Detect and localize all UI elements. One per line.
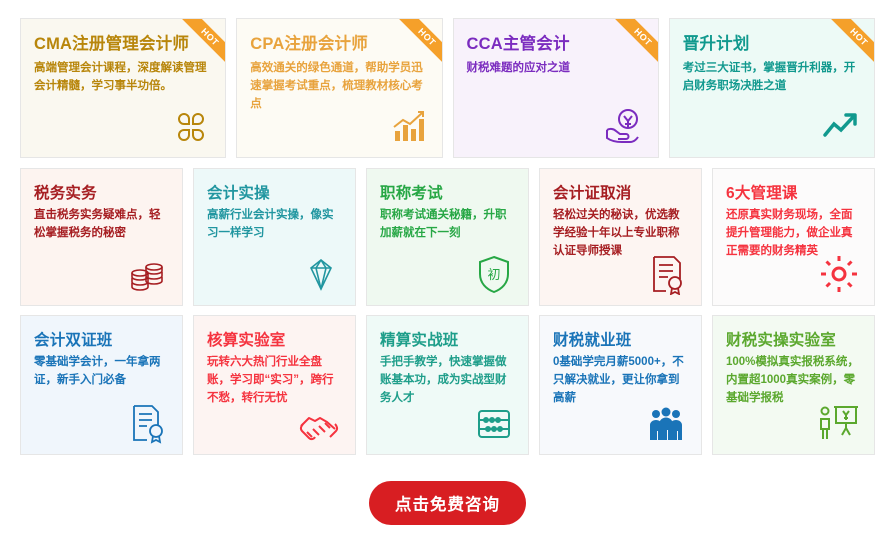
course-card-description: 直击税务实务疑难点，轻松掌握税务的秘密 [34,207,169,243]
course-card[interactable]: HOTCPA注册会计师高效通关的绿色通道，帮助学员迅速掌握考试重点，梳理教材核心… [236,18,442,158]
hot-ribbon-label: HOT [398,19,441,63]
course-card-title: 核算实验室 [207,332,342,349]
abacus-icon [468,398,514,444]
free-consult-button[interactable]: 点击免费咨询 [369,481,526,525]
course-card[interactable]: HOT晋升计划考过三大证书，掌握晋升利器，开启财务职场决胜之道 [669,18,875,158]
course-card[interactable]: HOTCMA注册管理会计师高端管理会计课程，深度解读管理会计精髓，学习事半功倍。 [20,18,226,158]
course-card-title: 财税实操实验室 [726,332,861,349]
course-card-title: 财税就业班 [553,332,688,349]
coins-icon [122,249,168,295]
handshake-icon [295,398,341,444]
course-card[interactable]: 财税就业班0基础学完月薪5000+，不只解决就业，更让你拿到高薪 [539,315,702,455]
course-card-title: 会计证取消 [553,185,688,202]
course-card-description: 零基础学会计，一年拿两证，新手入门必备 [34,354,169,390]
gear-icon [814,249,860,295]
hot-ribbon: HOT [614,19,658,63]
course-card[interactable]: 税务实务直击税务实务疑难点，轻松掌握税务的秘密 [20,168,183,306]
svg-text:初: 初 [487,268,500,283]
hand-yuan-icon [598,101,644,147]
course-card[interactable]: 会计双证班零基础学会计，一年拿两证，新手入门必备 [20,315,183,455]
trend-up-icon [814,101,860,147]
course-card-description: 职称考试通关秘籍，升职加薪就在下一刻 [380,207,515,243]
course-card-description: 考过三大证书，掌握晋升利器，开启财务职场决胜之道 [683,60,861,96]
featured-course-row: HOTCMA注册管理会计师高端管理会计课程，深度解读管理会计精髓，学习事半功倍。… [20,18,875,158]
course-card[interactable]: 职称考试职称考试通关秘籍，升职加薪就在下一刻初 [366,168,529,306]
hot-ribbon: HOT [398,19,442,63]
course-card-title: 职称考试 [380,185,515,202]
course-card-description: 高端管理会计课程，深度解读管理会计精髓，学习事半功倍。 [34,60,212,96]
course-card-title: 税务实务 [34,185,169,202]
bottom-course-row: 会计双证班零基础学会计，一年拿两证，新手入门必备核算实验室玩转六大热门行业全盘账… [20,315,875,455]
course-card-title: 精算实战班 [380,332,515,349]
cta-container: 点击免费咨询 [20,481,875,525]
course-card[interactable]: 精算实战班手把手教学，快速掌握做账基本功，成为实战型财务人才 [366,315,529,455]
course-card[interactable]: 会计证取消轻松过关的秘诀，优选教学经验十年以上专业职称认证导师授课 [539,168,702,306]
shield-chu-icon: 初 [468,249,514,295]
course-card[interactable]: HOTCCA主管会计财税难题的应对之道 [453,18,659,158]
course-card[interactable]: 会计实操高薪行业会计实操，像实习一样学习 [193,168,356,306]
course-grid-page: HOTCMA注册管理会计师高端管理会计课程，深度解读管理会计精髓，学习事半功倍。… [0,0,895,534]
hot-ribbon: HOT [830,19,874,63]
middle-course-row: 税务实务直击税务实务疑难点，轻松掌握税务的秘密会计实操高薪行业会计实操，像实习一… [20,168,875,306]
course-card-description: 高薪行业会计实操，像实习一样学习 [207,207,342,243]
document-award-icon [122,398,168,444]
course-card[interactable]: 财税实操实验室100%模拟真实报税系统，内置超1000真实案例，零基础学报税 [712,315,875,455]
course-card[interactable]: 核算实验室玩转六大热门行业全盘账，学习即“实习”，跨行不愁，转行无忧 [193,315,356,455]
clover-icon [165,101,211,147]
presenter-board-icon [814,398,860,444]
certificate-icon [641,249,687,295]
course-card-title: 6大管理课 [726,185,861,202]
course-card-title: 会计实操 [207,185,342,202]
course-card-title: 会计双证班 [34,332,169,349]
course-card[interactable]: 6大管理课还原真实财务现场，全面提升管理能力，做企业真正需要的财务精英 [712,168,875,306]
hot-ribbon-label: HOT [831,19,874,63]
bar-chart-icon [382,101,428,147]
people-group-icon [641,398,687,444]
diamond-icon [295,249,341,295]
hot-ribbon: HOT [181,19,225,63]
hot-ribbon-label: HOT [614,19,657,63]
hot-ribbon-label: HOT [182,19,225,63]
